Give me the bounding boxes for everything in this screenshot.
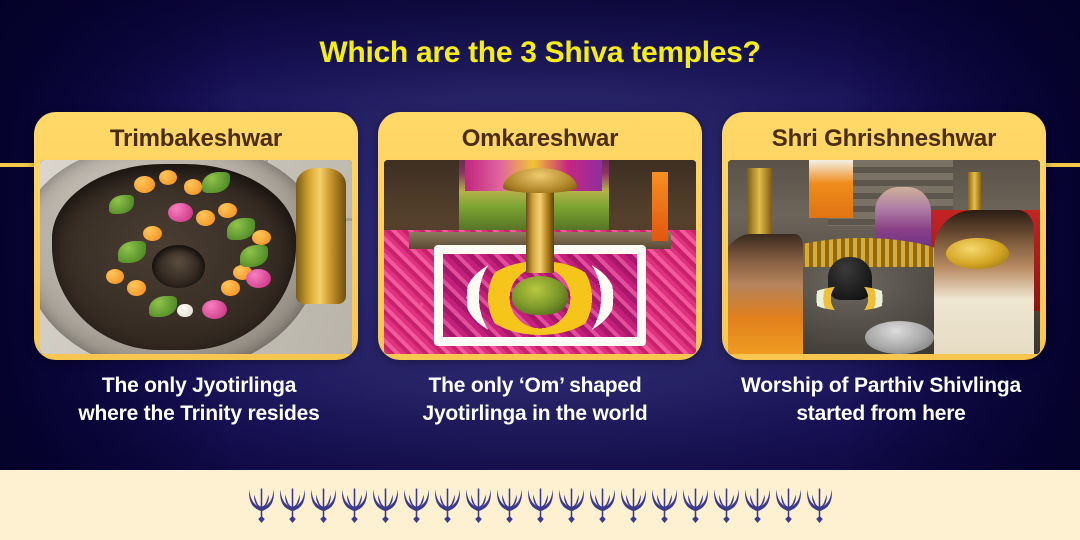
- trident-icon: [742, 485, 773, 525]
- card-title-ghrishneshwar: Shri Ghrishneshwar: [728, 118, 1040, 160]
- trident-icon: [246, 485, 277, 525]
- caption-ghrishneshwar: Worship of Parthiv Shivlinga started fro…: [706, 372, 1056, 427]
- trident-icon: [432, 485, 463, 525]
- temple-card-ghrishneshwar[interactable]: Shri Ghrishneshwar: [722, 112, 1046, 360]
- caption-line-2: Jyotirlinga in the world: [370, 400, 700, 428]
- trident-icon: [339, 485, 370, 525]
- caption-trimbakeshwar: The only Jyotirlinga where the Trinity r…: [34, 372, 364, 427]
- trident-icon: [463, 485, 494, 525]
- trident-icon: [804, 485, 835, 525]
- temple-card-trimbakeshwar[interactable]: Trimbakeshwar: [34, 112, 358, 360]
- trident-icon: [494, 485, 525, 525]
- trident-icon: [711, 485, 742, 525]
- card-title-omkareshwar: Omkareshwar: [384, 118, 696, 160]
- caption-line-1: Worship of Parthiv Shivlinga: [706, 372, 1056, 400]
- trident-icon: [525, 485, 556, 525]
- temple-card-omkareshwar[interactable]: Omkareshwar: [378, 112, 702, 360]
- caption-row: The only Jyotirlinga where the Trinity r…: [34, 372, 1046, 427]
- card-title-trimbakeshwar: Trimbakeshwar: [40, 118, 352, 160]
- trident-row: [246, 485, 835, 525]
- bottom-decorative-strip: [0, 470, 1080, 540]
- caption-omkareshwar: The only ‘Om’ shaped Jyotirlinga in the …: [370, 372, 700, 427]
- card-photo-trimbakeshwar: [40, 160, 352, 354]
- trident-icon: [773, 485, 804, 525]
- caption-line-1: The only ‘Om’ shaped: [370, 372, 700, 400]
- caption-line-1: The only Jyotirlinga: [34, 372, 364, 400]
- card-photo-ghrishneshwar: [728, 160, 1040, 354]
- caption-line-2: started from here: [706, 400, 1056, 428]
- trident-icon: [277, 485, 308, 525]
- caption-line-2: where the Trinity resides: [34, 400, 364, 428]
- trident-icon: [401, 485, 432, 525]
- page-title: Which are the 3 Shiva temples?: [0, 36, 1080, 70]
- trident-icon: [556, 485, 587, 525]
- trident-icon: [587, 485, 618, 525]
- trident-icon: [649, 485, 680, 525]
- temple-card-row: Trimbakeshwar: [34, 112, 1046, 360]
- infographic-canvas: Which are the 3 Shiva temples? Trimbakes…: [0, 0, 1080, 540]
- trident-icon: [308, 485, 339, 525]
- card-photo-omkareshwar: [384, 160, 696, 354]
- trident-icon: [618, 485, 649, 525]
- trident-icon: [680, 485, 711, 525]
- trident-icon: [370, 485, 401, 525]
